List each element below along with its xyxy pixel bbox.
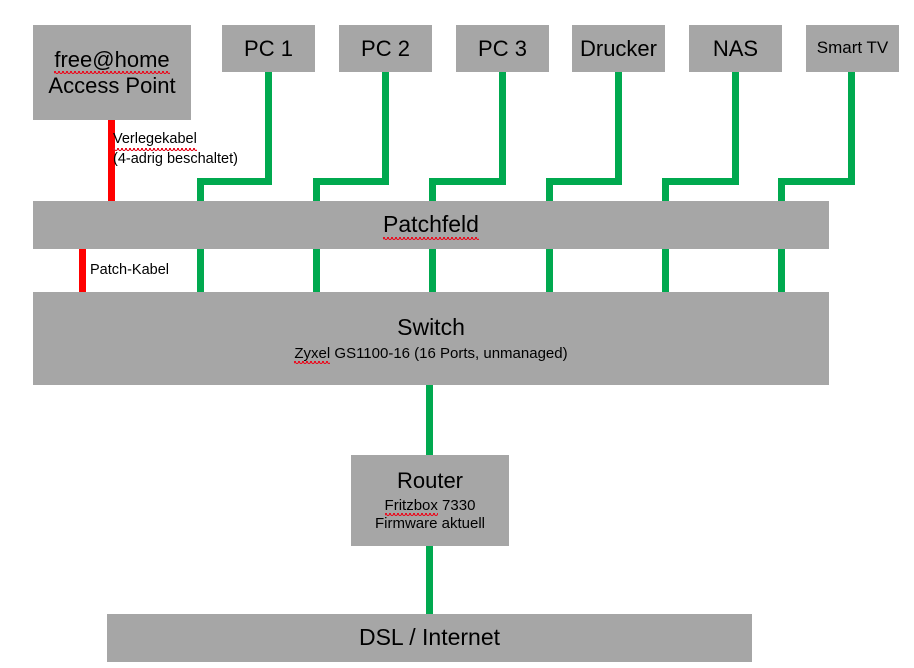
pc3-label: PC 3 <box>478 36 527 62</box>
node-patchfeld[interactable]: Patchfeld <box>33 201 829 249</box>
cable-green-pc2-drop <box>382 72 389 185</box>
node-nas[interactable]: NAS <box>689 25 782 72</box>
cable-green-drucker-jog <box>546 178 622 185</box>
verlegekabel-line1: Verlegekabel <box>113 130 238 150</box>
node-pc3[interactable]: PC 3 <box>456 25 549 72</box>
network-diagram-canvas: free@home Access Point PC 1 PC 2 PC 3 Dr… <box>0 0 914 668</box>
cable-green-drucker-drop <box>615 72 622 185</box>
dsl-internet-label: DSL / Internet <box>359 624 500 651</box>
node-dsl-internet[interactable]: DSL / Internet <box>107 614 752 662</box>
access-point-line2: Access Point <box>48 73 175 99</box>
node-router[interactable]: Router Fritzbox 7330 Firmware aktuell <box>351 455 509 546</box>
node-pc2[interactable]: PC 2 <box>339 25 432 72</box>
verlegekabel-line2: (4-adrig beschaltet) <box>113 150 238 170</box>
cable-green-nas-jog <box>662 178 739 185</box>
cable-green-pc2-jog <box>313 178 389 185</box>
node-drucker[interactable]: Drucker <box>572 25 665 72</box>
cable-green-pc3-drop <box>499 72 506 185</box>
cable-green-pc1-jog <box>197 178 272 185</box>
annotation-patch-kabel: Patch-Kabel <box>90 261 169 281</box>
smart-tv-label: Smart TV <box>817 38 888 58</box>
router-model-label: Fritzbox 7330 <box>385 497 476 515</box>
cable-green-smarttv-jog <box>778 178 855 185</box>
patchfeld-label: Patchfeld <box>383 211 479 238</box>
node-pc1[interactable]: PC 1 <box>222 25 315 72</box>
cable-green-pc1-drop <box>265 72 272 185</box>
nas-label: NAS <box>713 36 758 62</box>
drucker-label: Drucker <box>580 36 657 62</box>
cable-green-switch-to-router <box>426 385 433 455</box>
node-smart-tv[interactable]: Smart TV <box>806 25 899 72</box>
cable-green-smarttv-drop <box>848 72 855 185</box>
cable-green-nas-drop <box>732 72 739 185</box>
pc1-label: PC 1 <box>244 36 293 62</box>
switch-label: Switch <box>397 314 465 341</box>
cable-green-pc3-jog <box>429 178 506 185</box>
switch-sub-label: Zyxel GS1100-16 (16 Ports, unmanaged) <box>294 345 567 363</box>
router-firmware-label: Firmware aktuell <box>375 515 485 533</box>
node-switch[interactable]: Switch Zyxel GS1100-16 (16 Ports, unmana… <box>33 292 829 385</box>
annotation-verlegekabel: Verlegekabel (4-adrig beschaltet) <box>113 130 238 169</box>
access-point-line1: free@home <box>54 47 169 73</box>
pc2-label: PC 2 <box>361 36 410 62</box>
node-access-point[interactable]: free@home Access Point <box>33 25 191 120</box>
cable-green-router-to-dsl <box>426 546 433 614</box>
router-label: Router <box>397 468 463 494</box>
